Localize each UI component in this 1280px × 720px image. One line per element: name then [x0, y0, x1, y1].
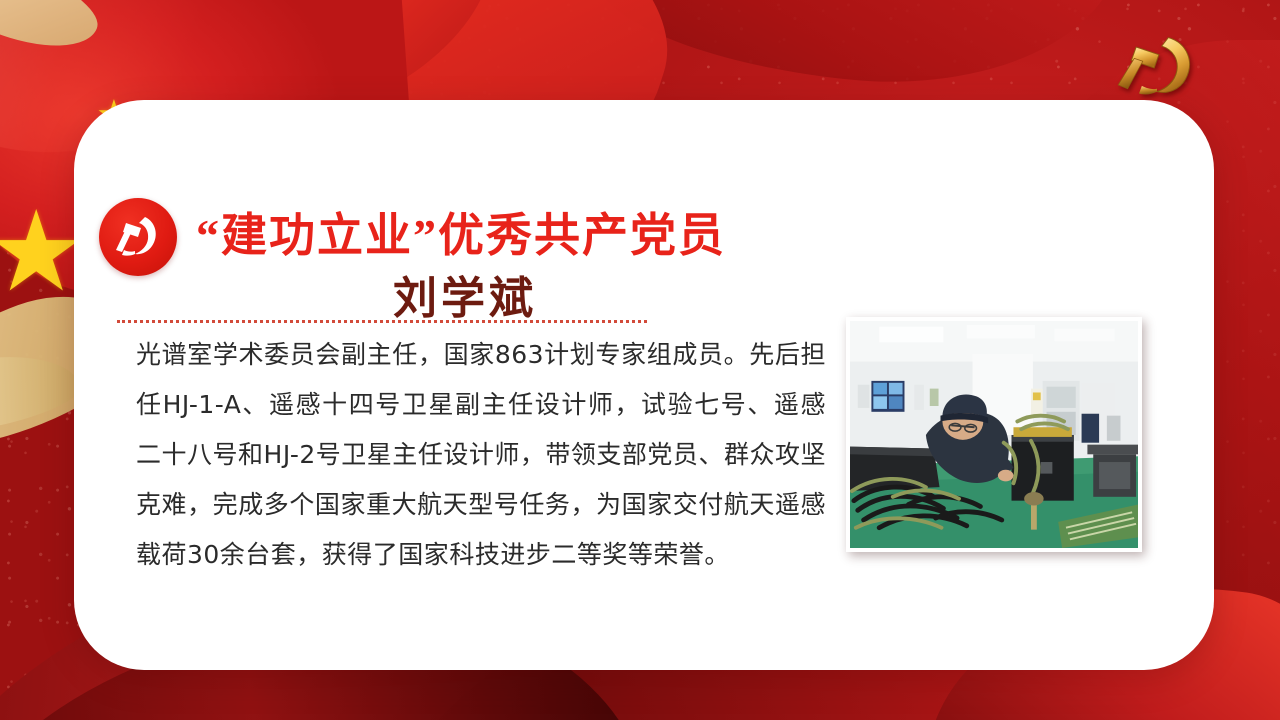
slide-stage: ★ ★ ★ ★ ★ [0, 0, 1280, 720]
cpc-hammer-sickle-emblem-icon [99, 198, 177, 276]
gold-hammer-sickle-emblem-icon [1108, 30, 1206, 102]
honoree-name: 刘学斌 [393, 262, 537, 326]
page-title: “建功立业”优秀共产党员 [196, 199, 726, 265]
dotted-divider [117, 320, 647, 323]
biography-text: 光谱室学术委员会副主任，国家863计划专家组成员。先后担任HJ-1-A、遥感十四… [136, 330, 826, 580]
honoree-photo [846, 317, 1142, 552]
